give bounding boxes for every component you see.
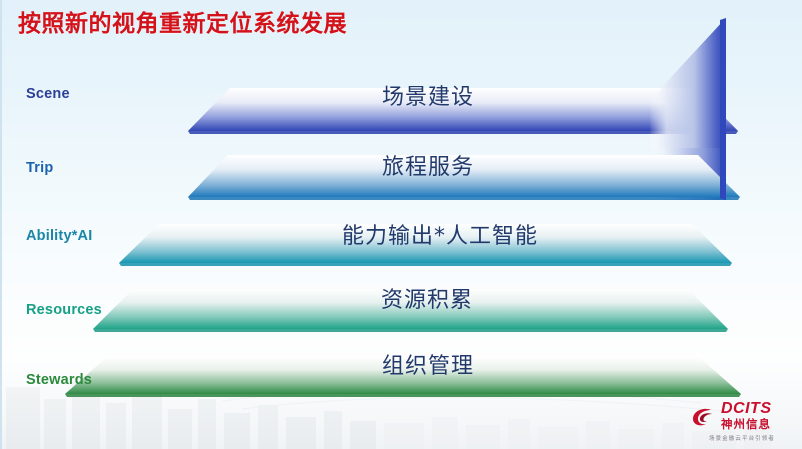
side-label-scene: Scene (26, 86, 70, 102)
layer-caption-resources: 资源积累 (381, 282, 473, 314)
layer-caption-scene: 场景建设 (382, 79, 474, 111)
logo-tagline: 场景金融云平台引领者 (690, 434, 794, 442)
side-label-trip: Trip (26, 160, 53, 176)
side-label-stewards: Stewards (26, 372, 92, 388)
logo-name-cn: 神州信息 (721, 419, 772, 431)
layer-caption-stewards: 组织管理 (382, 348, 474, 380)
dcits-swirl-icon (690, 404, 716, 428)
blue-wall-lower (650, 18, 726, 200)
page-title: 按照新的视角重新定位系统发展 (18, 4, 347, 38)
company-logo: DCITS 神州信息 场景金融云平台引领者 (690, 401, 794, 443)
logo-name-en: DCITS (721, 401, 772, 417)
blue-wall-panel (650, 18, 726, 200)
layer-caption-trip: 旅程服务 (382, 149, 474, 181)
slide-canvas: 按照新的视角重新定位系统发展 Scene Trip Ability*AI Res… (0, 0, 802, 449)
side-label-resources: Resources (26, 302, 102, 318)
side-label-ability-ai: Ability*AI (26, 228, 92, 244)
layer-caption-ability-ai: 能力输出*人工智能 (342, 218, 538, 250)
